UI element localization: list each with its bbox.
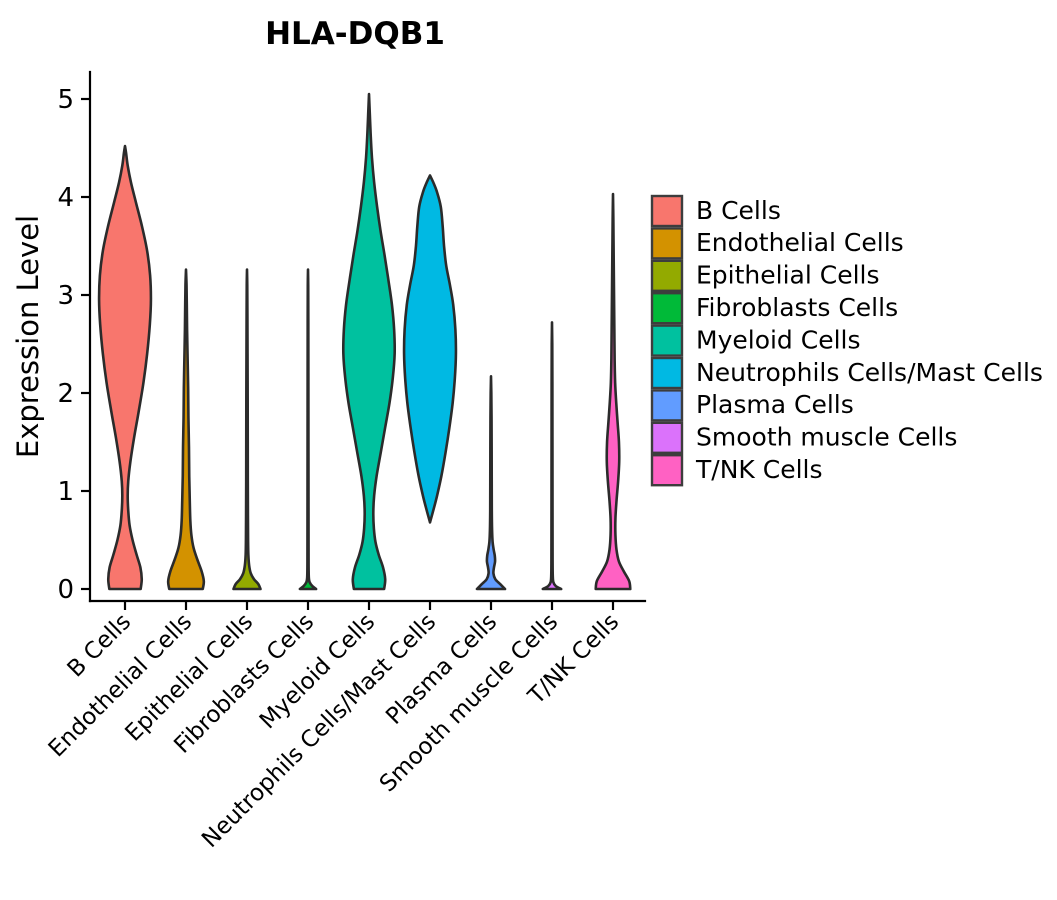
legend-swatch-icon [652,455,682,485]
legend-swatch-icon [652,228,682,258]
y-tick-label: 2 [57,379,74,409]
legend-swatch-icon [652,358,682,388]
legend-swatch-icon [652,293,682,323]
y-tick-label: 0 [57,575,74,605]
violin-plot-figure: HLA-DQB1 012345 Expression Level B Cells… [0,0,1057,900]
y-tick-label: 5 [57,85,74,115]
legend-swatch-icon [652,196,682,226]
legend-item-plasma-cells[interactable]: Plasma Cells [652,390,854,420]
chart-canvas: HLA-DQB1 012345 Expression Level B Cells… [0,0,1057,900]
legend-label: Endothelial Cells [696,228,904,257]
y-axis-title: Expression Level [11,215,45,458]
legend-label: Neutrophils Cells/Mast Cells [696,358,1043,387]
y-tick-label: 4 [57,183,74,213]
page-title: HLA-DQB1 [265,16,445,52]
legend-item-t-nk-cells[interactable]: T/NK Cells [652,455,823,485]
legend-label: T/NK Cells [695,455,823,484]
legend-swatch-icon [652,326,682,356]
legend-item-smooth-muscle-cells[interactable]: Smooth muscle Cells [652,423,957,453]
y-tick-label: 1 [57,477,74,507]
legend-label: Smooth muscle Cells [696,423,957,452]
legend-label: Epithelial Cells [696,261,880,290]
legend-item-b-cells[interactable]: B Cells [652,196,781,226]
legend-label: Fibroblasts Cells [696,293,898,322]
legend-label: Plasma Cells [696,390,854,419]
legend-item-neutrophils-cells-mast-cells[interactable]: Neutrophils Cells/Mast Cells [652,358,1043,388]
legend-label: B Cells [696,196,781,225]
legend-swatch-icon [652,261,682,291]
legend-label: Myeloid Cells [696,325,861,354]
y-tick-label: 3 [57,281,74,311]
legend-swatch-icon [652,390,682,420]
legend-swatch-icon [652,423,682,453]
